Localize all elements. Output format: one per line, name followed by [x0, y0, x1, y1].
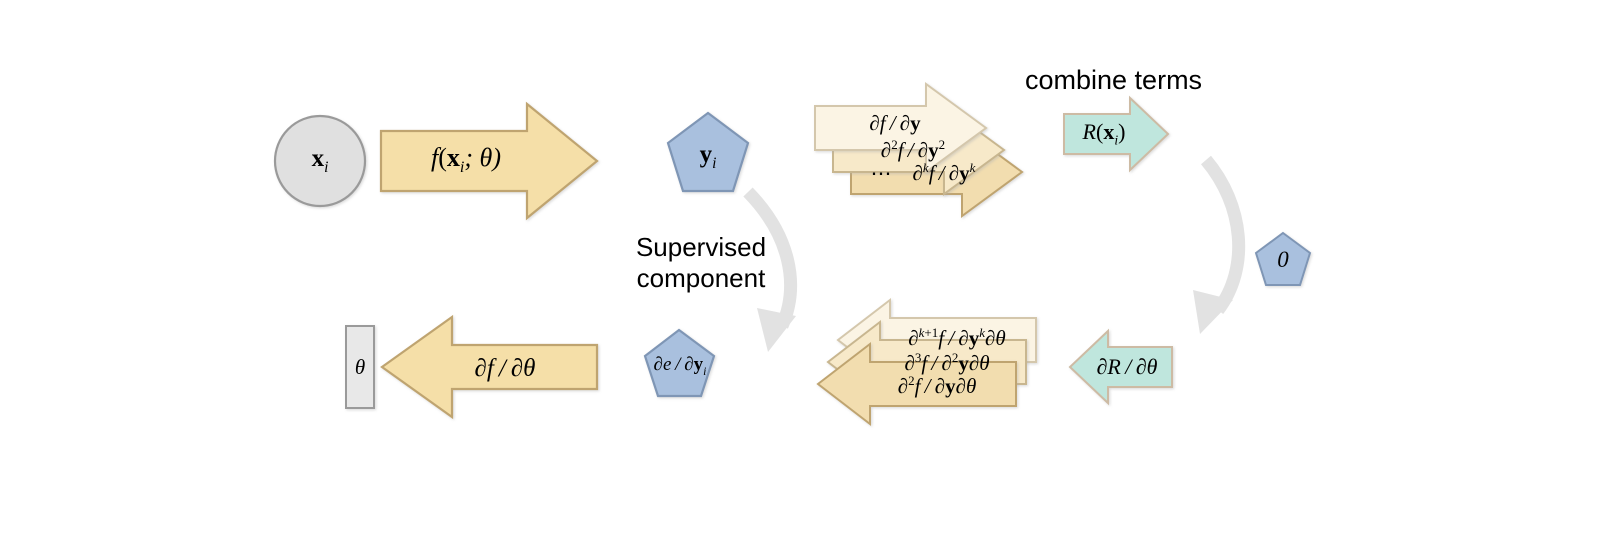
- residual-arrow-shape: [1064, 98, 1168, 170]
- output-pentagon-shape: [668, 113, 748, 191]
- theta-rect-shape: [346, 326, 374, 408]
- residual-curved-arrow: [1193, 160, 1239, 334]
- forward-arrow-shape: [381, 104, 597, 218]
- combine-terms-label: combine terms: [1025, 65, 1202, 97]
- supervised-component-line2: component: [626, 263, 776, 294]
- error-pentagon-shape: [645, 330, 714, 396]
- grad-f-arrow-shape: [382, 317, 597, 417]
- supervised-component-label: Supervised component: [626, 232, 776, 293]
- diagram-shapes: [0, 0, 1600, 540]
- diagram-canvas: xi f(xi; θ) yi ∂f / ∂y ∂2f / ∂y2 ⋯ ∂kf /…: [0, 0, 1600, 540]
- input-circle-shape: [275, 116, 365, 206]
- zero-pentagon-shape: [1256, 233, 1310, 285]
- supervised-component-line1: Supervised: [626, 232, 776, 263]
- grad-R-arrow-shape: [1070, 331, 1172, 403]
